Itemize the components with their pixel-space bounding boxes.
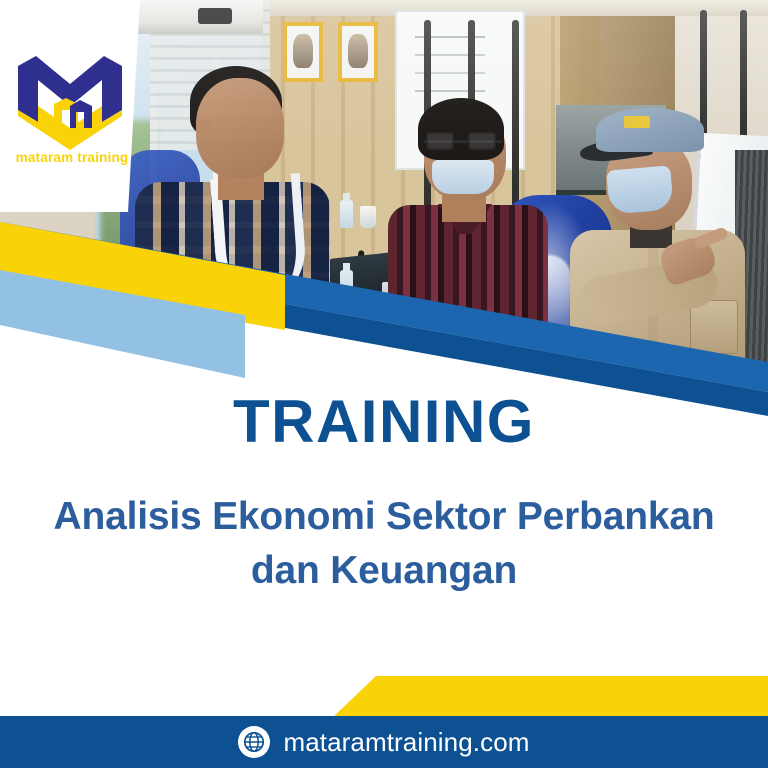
mataram-m-logo-icon bbox=[14, 44, 126, 152]
jacket-pocket bbox=[690, 300, 738, 354]
face-mask bbox=[432, 160, 494, 194]
logo-wordmark: mataram training bbox=[13, 150, 131, 165]
person-striped-shirt-hair bbox=[418, 98, 504, 160]
ceiling-pole bbox=[512, 20, 519, 210]
globe-icon bbox=[238, 726, 270, 758]
baseball-cap bbox=[596, 108, 704, 152]
drinking-glass bbox=[360, 206, 376, 228]
ceiling-pole bbox=[740, 10, 747, 150]
person-plaid-shirt-ear bbox=[196, 118, 212, 138]
eyeglasses-icon bbox=[424, 140, 502, 143]
course-subtitle: Analisis Ekonomi Sektor Perbankan dan Ke… bbox=[34, 490, 734, 598]
cap-logo bbox=[624, 116, 650, 128]
wall-portrait bbox=[338, 22, 378, 82]
wall-portrait bbox=[283, 22, 323, 82]
training-poster: mataram training TRAINING Analisis Ekono… bbox=[0, 0, 768, 768]
water-bottle bbox=[340, 200, 353, 228]
course-subtitle-line-2: dan Keuangan bbox=[34, 544, 734, 598]
page-title: TRAINING bbox=[0, 392, 768, 452]
footer-bar: mataramtraining.com bbox=[0, 716, 768, 768]
footer-yellow-accent bbox=[0, 676, 768, 718]
course-subtitle-line-1: Analisis Ekonomi Sektor Perbankan bbox=[34, 490, 734, 544]
website-url[interactable]: mataramtraining.com bbox=[283, 727, 529, 758]
projector bbox=[198, 8, 232, 24]
